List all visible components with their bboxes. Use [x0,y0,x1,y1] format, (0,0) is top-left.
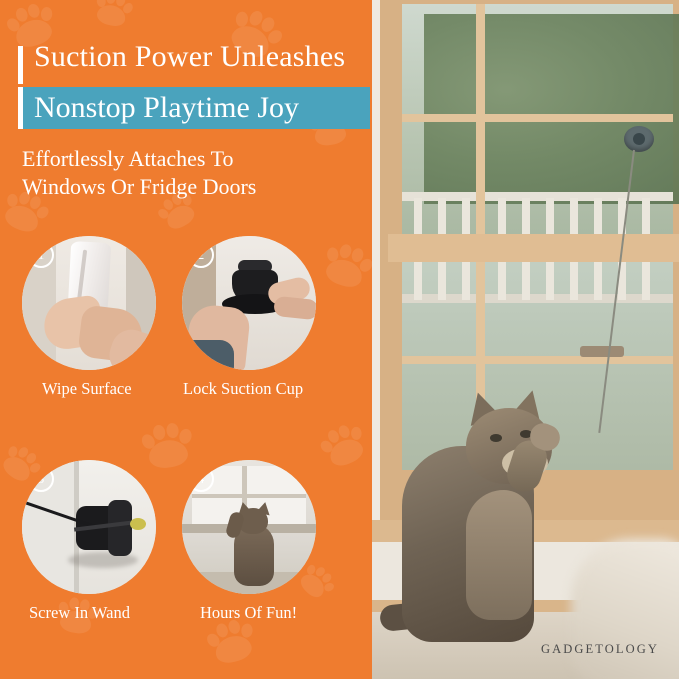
step-caption-2: Lock Suction Cup [183,379,333,399]
headline-line-1: Suction Power Unleashes [34,40,345,74]
step-item-2: 2 Lock Suction Cup [182,236,322,399]
brand-logo-text: GADGETOLOGY [541,642,659,657]
hours-of-fun-photo: 4 [182,460,316,594]
step-item-1: 1 Wipe Surface [22,236,162,399]
lock-suction-cup-photo: 2 [182,236,316,370]
window-sash-handle [580,346,624,357]
subheadline: Effortlessly Attaches To Windows Or Frid… [22,145,362,201]
headline-accent-rule-2 [18,87,23,129]
step-badge-1: 1 [28,242,54,268]
subheadline-line-1: Effortlessly Attaches To [22,145,362,173]
cat-eye-left [490,434,502,442]
product-infographic: Suction Power Unleashes Nonstop Playtime… [0,0,679,679]
suction-cup-mount [624,126,654,152]
step-caption-4: Hours Of Fun! [200,603,350,623]
wipe-surface-photo: 1 [22,236,156,370]
headline-line-2: Nonstop Playtime Joy [34,91,299,125]
step-item-3: 3 Screw In Wand [22,460,162,623]
subheadline-line-2: Windows Or Fridge Doors [22,173,362,201]
step-caption-3: Screw In Wand [29,603,179,623]
headline-accent-rule [18,46,23,84]
outdoor-foliage [424,14,679,204]
step-item-4: 4 Hours Of Fun! [182,460,322,623]
window-mullion-horizontal-lower [402,356,673,364]
step-badge-4: 4 [188,466,214,492]
window-mullion-vertical-upper [476,4,485,240]
window-meeting-rail [388,234,679,262]
cat [392,386,582,642]
step-badge-2: 2 [188,242,214,268]
left-info-panel: Suction Power Unleashes Nonstop Playtime… [0,0,372,679]
screw-in-wand-photo: 3 [22,460,156,594]
window-mullion-horizontal-upper [402,114,673,122]
foreground-blur-object [571,539,679,679]
cat-playing-at-window-photo: GADGETOLOGY [372,0,679,679]
step-badge-3: 3 [28,466,54,492]
step-caption-1: Wipe Surface [42,379,192,399]
cat-chest [466,490,532,620]
